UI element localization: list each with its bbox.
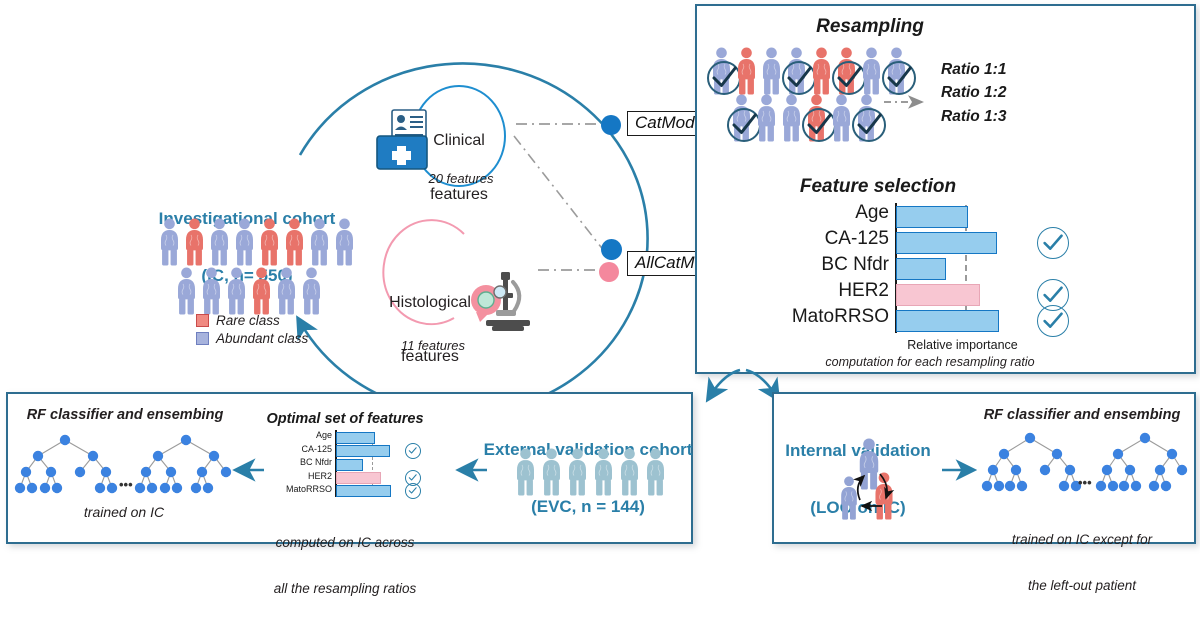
histological-features-label: Histological features: [389, 258, 471, 401]
feature-selection-chart: AgeCA-125 BC NfdrHER2 MatoRRSO: [895, 203, 1095, 335]
iv-caption-line1: trained on IC except for: [1012, 532, 1152, 547]
legend-swatch-rare: [196, 314, 209, 327]
ratio-1: Ratio 1:1: [941, 58, 1006, 81]
legend-label-abundant: Abundant class: [216, 331, 308, 346]
person-evc-1-evc: [514, 448, 537, 501]
optimal-caption-line1: computed on IC across: [274, 535, 417, 550]
loo-arrows: [836, 438, 926, 512]
person-icon: [592, 448, 615, 496]
person-ic1-1-abundant: [158, 218, 181, 271]
person-rs1-5-rare: [810, 47, 833, 100]
iv-caption-line2: the left-out patient: [1012, 578, 1152, 593]
person-icon: [333, 218, 356, 266]
person-icon: [208, 218, 231, 266]
resampling-people-row-1: [710, 47, 908, 100]
person-evc-3-evc: [566, 448, 589, 501]
person-icon: [158, 218, 181, 266]
person-icon: [735, 47, 758, 95]
person-icon: [540, 448, 563, 496]
person-evc-6-evc: [644, 448, 667, 501]
histological-features-count: 11 features: [401, 339, 465, 354]
resampling-ratio-list: Ratio 1:1 Ratio 1:2 Ratio 1:3: [941, 58, 1006, 128]
arrow-left-1: [232, 462, 266, 478]
person-rs2-5-abundant: [830, 94, 853, 147]
person-icon: [644, 448, 667, 496]
person-icon: [308, 218, 331, 266]
bar-label-ca-125: CA-125: [270, 444, 332, 454]
rf-caption-left: trained on IC: [84, 505, 164, 521]
check-circle-icon-ca-125: [405, 443, 421, 459]
ratio-2: Ratio 1:2: [941, 81, 1006, 104]
person-icon: [283, 218, 306, 266]
person-rs1-1-abundant: [710, 47, 733, 100]
tree-ellipsis-left: •••: [119, 478, 133, 493]
person-rs2-6-abundant: [855, 94, 878, 147]
bar-ca-125: [336, 445, 390, 457]
bar-label-her2: HER2: [270, 471, 332, 481]
person-ic2-1-abundant: [175, 267, 198, 320]
bar-matorrso: [336, 485, 391, 497]
person-icon: [810, 47, 833, 95]
person-icon: [830, 94, 853, 142]
person-icon: [183, 218, 206, 266]
clinical-features-label: Clinical features: [430, 96, 488, 239]
person-ic1-6-rare: [283, 218, 306, 271]
optimal-features-title: Optimal set of features: [266, 411, 423, 427]
person-rs1-6-rare: [835, 47, 858, 100]
allcatmodel-node-pink: [599, 262, 619, 282]
figure-canvas: CatModel AllCatModel Clinical features 2…: [0, 0, 1200, 549]
optimal-features-caption: computed on IC across all the resampling…: [274, 505, 417, 626]
person-evc-2-evc: [540, 448, 563, 501]
bar-label-age: Age: [771, 202, 889, 224]
ratio-3: Ratio 1:3: [941, 105, 1006, 128]
person-rs2-1-abundant: [730, 94, 753, 147]
person-rs1-2-rare: [735, 47, 758, 100]
check-circle-icon-ca-125: [1037, 227, 1069, 259]
rf-classifier-title-left: RF classifier and ensembing: [27, 407, 224, 423]
person-icon: [760, 47, 783, 95]
bar-label-bc-nfdr: BC Nfdr: [771, 254, 889, 276]
person-ic1-3-abundant: [208, 218, 231, 271]
person-evc-5-evc: [618, 448, 641, 501]
person-ic1-8-abundant: [333, 218, 356, 271]
person-icon: [618, 448, 641, 496]
bar-label-bc-nfdr: BC Nfdr: [270, 457, 332, 467]
person-ic1-2-rare: [183, 218, 206, 271]
rf-caption-right: trained on IC except for the left-out pa…: [1012, 502, 1152, 623]
person-icon: [233, 218, 256, 266]
selection-check-circle-icon: [882, 61, 916, 95]
bar-bc-nfdr: [336, 459, 363, 471]
bar-label-ca-125: CA-125: [771, 228, 889, 250]
bar-her2: [336, 472, 381, 484]
person-rs1-3-abundant: [760, 47, 783, 100]
legend-swatch-abundant: [196, 332, 209, 345]
legend-label-rare: Rare class: [216, 313, 280, 328]
cohort-legend: Rare class Abundant class: [196, 313, 308, 346]
person-rs1-4-abundant: [785, 47, 808, 100]
person-rs1-7-abundant: [860, 47, 883, 100]
person-rs2-4-rare: [805, 94, 828, 147]
bar-label-age: Age: [270, 430, 332, 440]
bar-label-her2: HER2: [771, 280, 889, 302]
person-ic1-7-abundant: [308, 218, 331, 271]
resampling-title: Resampling: [816, 16, 924, 37]
bar-label-matorrso: MatoRRSO: [771, 306, 889, 328]
person-icon: [300, 267, 323, 315]
bar-age: [896, 206, 968, 228]
catmodel-node: [601, 115, 621, 135]
bar-matorrso: [896, 310, 999, 332]
person-rs1-8-abundant: [885, 47, 908, 100]
check-circle-icon-matorrso: [405, 483, 421, 499]
arrow-right-internal: [940, 462, 980, 478]
person-rs2-2-abundant: [755, 94, 778, 147]
evc-people-row: [514, 448, 667, 501]
person-icon: [200, 267, 223, 315]
resampling-people-row-2: [730, 94, 878, 147]
person-rs2-3-abundant: [780, 94, 803, 147]
person-evc-4-evc: [592, 448, 615, 501]
person-icon: [258, 218, 281, 266]
person-icon: [175, 267, 198, 315]
person-icon: [566, 448, 589, 496]
bar-bc-nfdr: [896, 258, 946, 280]
tree-ellipsis-right: •••: [1078, 476, 1092, 491]
bar-ca-125: [896, 232, 997, 254]
person-icon: [275, 267, 298, 315]
allcatmodel-node-blue: [601, 239, 622, 260]
optimal-caption-line2: all the resampling ratios: [274, 581, 417, 596]
bar-her2: [896, 284, 980, 306]
clinical-features-count: 20 features: [428, 172, 493, 187]
person-icon: [860, 47, 883, 95]
optimal-features-chart: AgeCA-125 BC NfdrHER2 MatoRRSO: [335, 430, 445, 502]
feature-selection-footnote: computation for each resampling ratio: [825, 355, 1034, 369]
bar-age: [336, 432, 375, 444]
feature-selection-title: Feature selection: [800, 176, 956, 197]
resampling-arrow-icon: [884, 95, 934, 109]
person-icon: [780, 94, 803, 142]
person-icon: [755, 94, 778, 142]
cohort-people-row-1: [158, 218, 356, 271]
person-icon: [514, 448, 537, 496]
person-ic1-5-rare: [258, 218, 281, 271]
person-icon: [225, 267, 248, 315]
selection-check-circle-icon: [852, 108, 886, 142]
bar-label-matorrso: MatoRRSO: [270, 484, 332, 494]
relative-importance-axis-label: Relative importance: [895, 338, 1030, 352]
person-icon: [250, 267, 273, 315]
check-circle-icon-matorrso: [1037, 305, 1069, 337]
person-ic1-4-abundant: [233, 218, 256, 271]
rf-classifier-title-right: RF classifier and ensembing: [984, 407, 1181, 423]
